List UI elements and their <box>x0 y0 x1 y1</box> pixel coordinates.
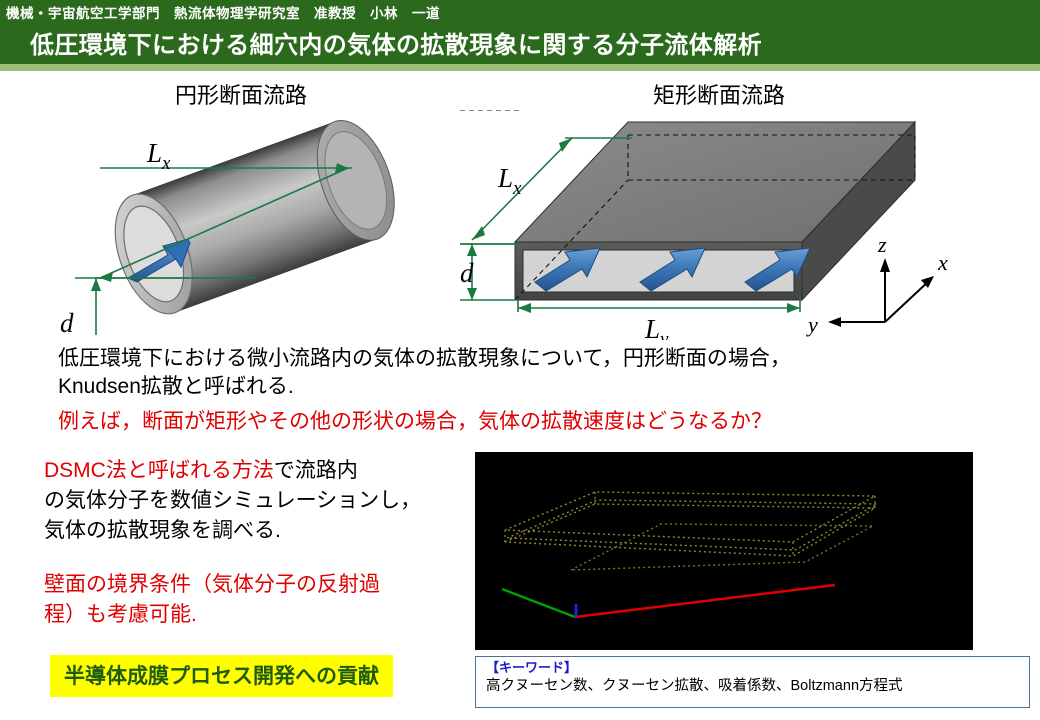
dsmc-line3: 気体の拡散現象を調べる. <box>44 516 474 546</box>
right-figure-width-label: Ly <box>644 314 669 340</box>
right-figure-height-label: d <box>460 258 474 288</box>
rectangular-channel-figure: Lx d Ly z x y <box>460 110 970 340</box>
boundary-condition-note: 壁面の境界条件（気体分子の反射過 程）も考慮可能. <box>44 570 474 630</box>
dsmc-line1-rest: で流路内 <box>274 459 358 482</box>
sim-axis-y <box>502 589 575 617</box>
slide-root: 機械・宇宙航空工学部門 熱流体物理学研究室 准教授 小林 一道 低圧環境下におけ… <box>0 0 1040 720</box>
axis-x-label: x <box>937 250 948 275</box>
right-figure-length-label: Lx <box>497 163 522 199</box>
keyword-list: 高クヌーセン数、クヌーセン拡散、吸着係数、Boltzmann方程式 <box>486 677 1029 697</box>
boundary-line1: 壁面の境界条件（気体分子の反射過 <box>44 570 474 600</box>
body-paragraph-line1: 低圧環境下における微小流路内の気体の拡散現象について，円形断面の場合， <box>58 345 791 373</box>
dsmc-line2: の気体分子を数値シミュレーションし， <box>44 486 474 516</box>
sim-axis-x <box>575 585 835 617</box>
keyword-box: 【キーワード】 高クヌーセン数、クヌーセン拡散、吸着係数、Boltzmann方程… <box>475 656 1030 708</box>
left-figure-diameter-label: d <box>60 308 74 335</box>
page-title: 低圧環境下における細穴内の気体の拡散現象に関する分子流体解析 <box>30 25 762 60</box>
axis-z-label: z <box>877 232 887 257</box>
body-paragraph: 低圧環境下における微小流路内の気体の拡散現象について，円形断面の場合， Knud… <box>58 345 791 402</box>
dsmc-description: DSMC法と呼ばれる方法で流路内 の気体分子を数値シミュレーションし， 気体の拡… <box>44 456 474 545</box>
dsmc-highlight: DSMC法と呼ばれる方法 <box>44 459 274 482</box>
department-line: 機械・宇宙航空工学部門 熱流体物理学研究室 准教授 小林 一道 <box>6 2 440 22</box>
simulation-panel <box>475 452 973 650</box>
keyword-title: 【キーワード】 <box>486 660 1029 677</box>
boundary-line2: 程）も考慮可能. <box>44 600 474 630</box>
header-underline <box>0 64 1040 71</box>
contribution-highlight: 半導体成膜プロセス開発への貢献 <box>50 655 393 697</box>
body-paragraph-line2: Knudsen拡散と呼ばれる. <box>58 373 791 401</box>
dsmc-line1: DSMC法と呼ばれる方法で流路内 <box>44 456 474 486</box>
body-question: 例えば，断面が矩形やその他の形状の場合，気体の拡散速度はどうなるか？ <box>58 408 772 436</box>
right-figure-caption: 矩形断面流路 <box>653 78 785 110</box>
axis-y-label: y <box>806 312 818 337</box>
left-figure-caption: 円形断面流路 <box>175 78 307 110</box>
circular-channel-figure: Lx d <box>60 110 460 335</box>
